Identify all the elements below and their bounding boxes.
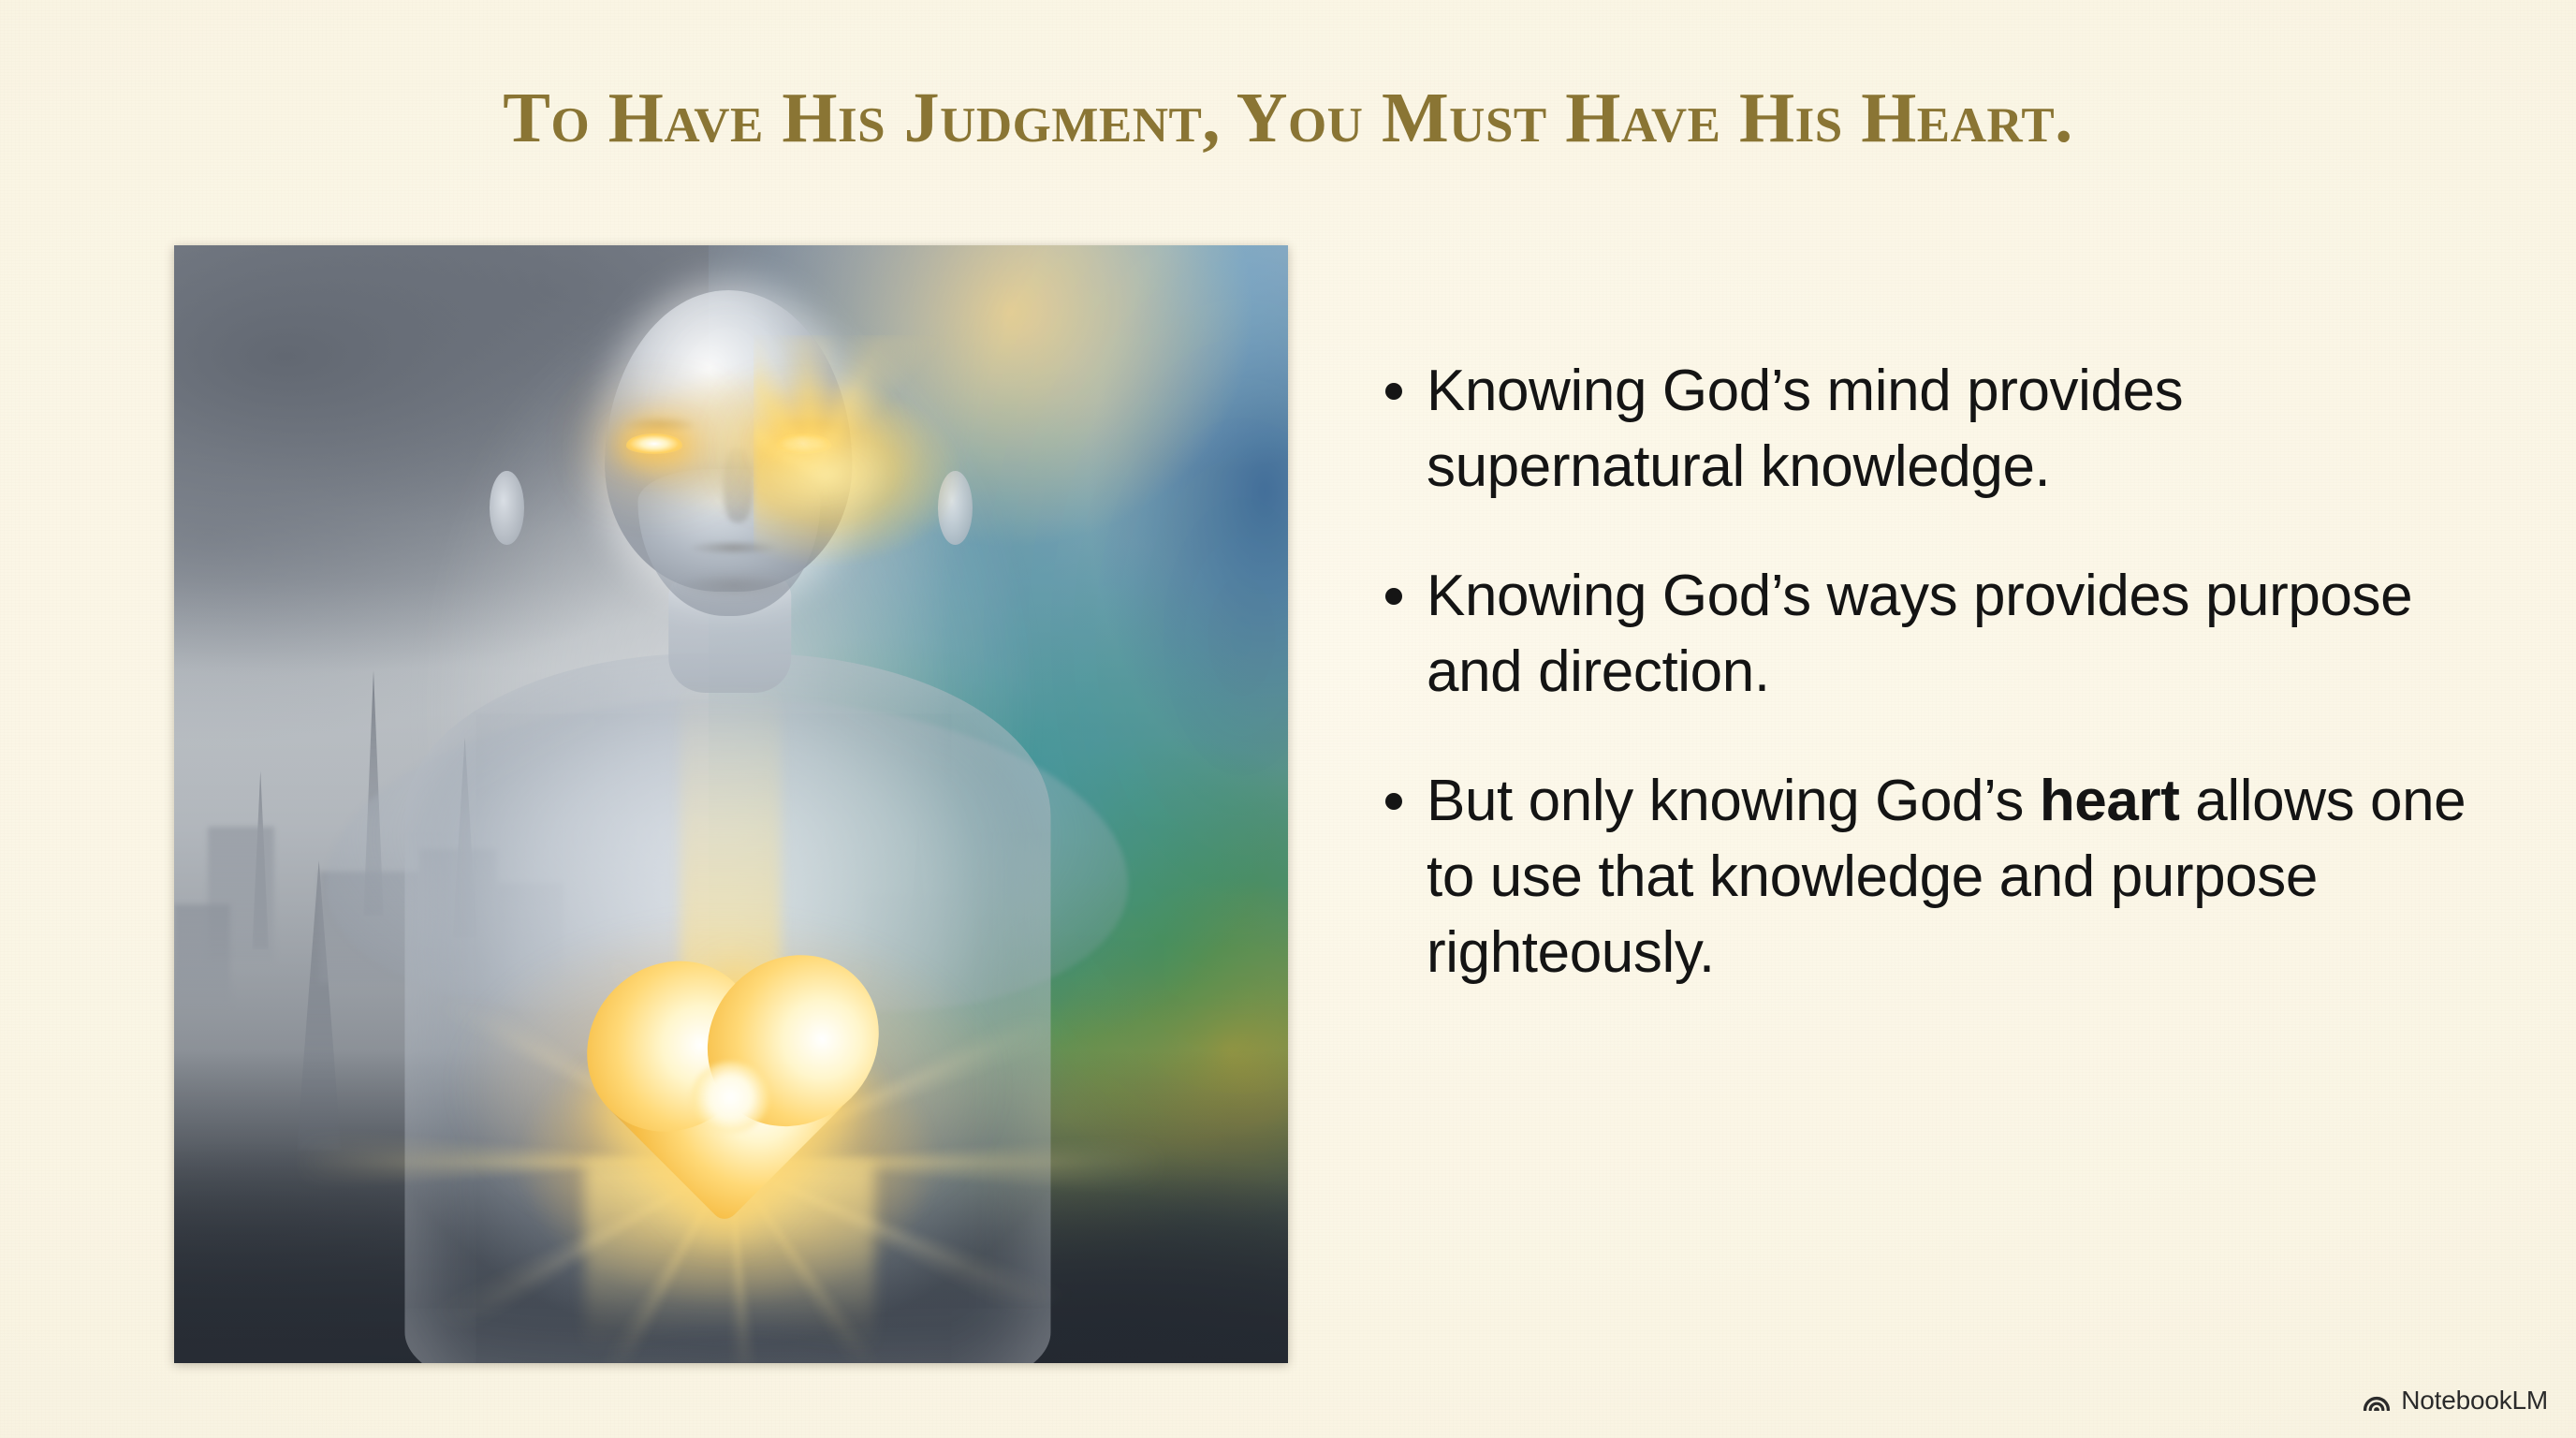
list-item: Knowing God’s mind provides supernatural…: [1385, 354, 2490, 505]
bullet-1-segment-plain: Knowing God’s mind provides supernatural…: [1427, 359, 2183, 499]
figure-ear-left: [490, 471, 524, 545]
illustration-image: [174, 245, 1288, 1363]
golden-light-burst: [754, 335, 1288, 604]
bullet-dot-icon: [1385, 793, 1402, 810]
notebooklm-brand: NotebookLM: [2363, 1386, 2548, 1416]
notebooklm-arch-icon: [2363, 1387, 2391, 1416]
slide-title: To Have His Judgment, You Must Have His …: [0, 82, 2576, 154]
bullet-3-text: But only knowing God’s heart allows one …: [1427, 764, 2490, 990]
list-item: Knowing God’s ways provides purpose and …: [1385, 559, 2490, 710]
bullet-2-segment-plain: Knowing God’s ways provides purpose and …: [1427, 564, 2412, 704]
bullet-dot-icon: [1385, 383, 1402, 400]
bullet-3-segment-emphasis: heart: [2040, 769, 2180, 833]
bullet-list: Knowing God’s mind provides supernatural…: [1385, 354, 2490, 1045]
bullet-3-segment-lead: But only knowing God’s: [1427, 769, 2040, 833]
notebooklm-wordmark: NotebookLM: [2401, 1386, 2548, 1416]
luminous-figure: [174, 245, 1288, 1363]
glowing-eye-left: [626, 433, 682, 455]
list-item: But only knowing God’s heart allows one …: [1385, 764, 2490, 990]
bullet-dot-icon: [1385, 588, 1402, 605]
bullet-1-text: Knowing God’s mind provides supernatural…: [1427, 354, 2490, 505]
bullet-2-text: Knowing God’s ways provides purpose and …: [1427, 559, 2490, 710]
slide-canvas: To Have His Judgment, You Must Have His …: [0, 0, 2576, 1438]
